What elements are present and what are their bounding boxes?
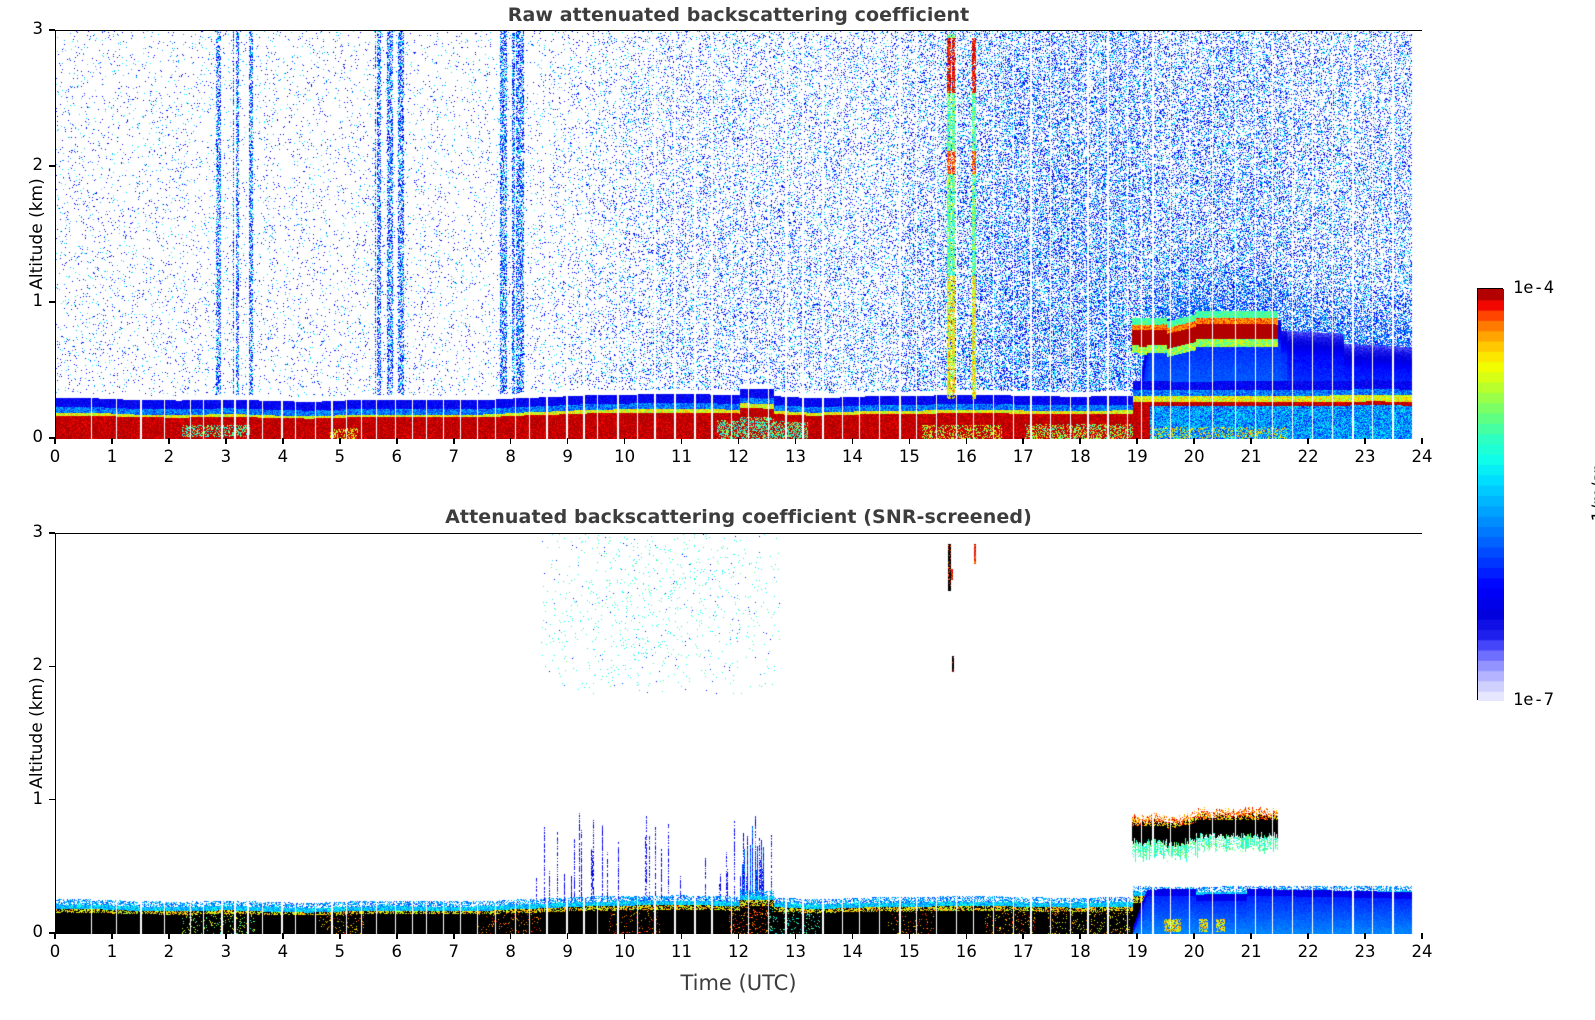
panel1-x-tick-label: 5 (314, 447, 366, 466)
panel1-x-tick-mark (1364, 438, 1366, 444)
colorbar-unit-text: 1/m/sr (1589, 434, 1595, 554)
panel1-x-tick-mark (909, 438, 911, 444)
panel1-x-tick-mark (1022, 438, 1024, 444)
panel1-x-tick-label: 16 (940, 447, 992, 466)
panel1-x-tick-label: 14 (826, 447, 878, 466)
panel1-x-tick-mark (795, 438, 797, 444)
panel2-x-tick-mark (624, 933, 626, 939)
panel2-x-tick-label: 8 (485, 942, 537, 961)
panel2-x-tick-label: 21 (1225, 942, 1277, 961)
panel2-x-tick-mark (1079, 933, 1081, 939)
panel1-x-tick-mark (624, 438, 626, 444)
panel1-x-tick-mark (1250, 438, 1252, 444)
panel1-title: Raw attenuated backscattering coefficien… (55, 4, 1422, 26)
panel1-y-tick-mark (49, 301, 55, 303)
panel2-y-tick-label: 0 (0, 922, 43, 941)
panel1-x-tick-label: 19 (1111, 447, 1163, 466)
panel2-x-tick-mark (453, 933, 455, 939)
panel1-y-tick-label: 0 (0, 427, 43, 446)
panel2-x-tick-mark (1421, 933, 1423, 939)
panel1-x-tick-mark (1307, 438, 1309, 444)
colorbar-unit-label: 1/m/sr (1539, 484, 1595, 504)
panel1-y-tick-mark (49, 29, 55, 31)
panel2-x-tick-mark (339, 933, 341, 939)
panel1-x-tick-mark (339, 438, 341, 444)
panel1-x-tick-label: 1 (86, 447, 138, 466)
colorbar[interactable] (1477, 288, 1503, 700)
panel1-plot-area[interactable] (55, 30, 1422, 438)
panel1-x-tick-label: 24 (1396, 447, 1448, 466)
figure-root: Raw attenuated backscattering coefficien… (0, 0, 1595, 1020)
panel2-x-tick-label: 20 (1168, 942, 1220, 961)
panel1-x-tick-label: 22 (1282, 447, 1334, 466)
panel2-y-tick-label: 2 (0, 655, 43, 674)
panel2-x-tick-mark (1022, 933, 1024, 939)
panel2-x-tick-mark (852, 933, 854, 939)
panel1-x-tick-mark (225, 438, 227, 444)
colorbar-gradient (1478, 289, 1504, 701)
panel2-x-tick-label: 17 (997, 942, 1049, 961)
panel1-x-tick-mark (738, 438, 740, 444)
panel2-y-tick-mark (49, 666, 55, 668)
panel2-x-tick-label: 18 (1054, 942, 1106, 961)
panel2-x-tick-label: 0 (29, 942, 81, 961)
panel2-x-tick-label: 12 (713, 942, 765, 961)
panel1-x-tick-label: 4 (257, 447, 309, 466)
panel2-x-tick-mark (396, 933, 398, 939)
panel1-x-tick-mark (510, 438, 512, 444)
panel2-x-tick-mark (795, 933, 797, 939)
panel1-x-tick-label: 9 (542, 447, 594, 466)
panel2-x-tick-mark (1136, 933, 1138, 939)
panel2-x-tick-label: 7 (428, 942, 480, 961)
panel1-x-tick-label: 12 (713, 447, 765, 466)
panel2-x-tick-label: 15 (883, 942, 935, 961)
colorbar-min-label: 1e-7 (1513, 690, 1554, 710)
panel1-x-tick-mark (396, 438, 398, 444)
panel1-x-tick-mark (567, 438, 569, 444)
panel1-x-tick-mark (1421, 438, 1423, 444)
panel1-x-tick-label: 8 (485, 447, 537, 466)
panel1-heatmap (56, 31, 1423, 439)
panel2-x-tick-mark (1193, 933, 1195, 939)
panel1-x-tick-mark (852, 438, 854, 444)
panel1-x-tick-label: 7 (428, 447, 480, 466)
panel2-x-tick-mark (738, 933, 740, 939)
panel1-x-tick-label: 17 (997, 447, 1049, 466)
panel2-x-tick-label: 9 (542, 942, 594, 961)
panel1-x-tick-label: 18 (1054, 447, 1106, 466)
panel2-x-tick-mark (1307, 933, 1309, 939)
panel1-x-tick-label: 21 (1225, 447, 1277, 466)
panel2-x-tick-mark (567, 933, 569, 939)
panel1-x-tick-label: 3 (200, 447, 252, 466)
panel2-x-tick-label: 2 (143, 942, 195, 961)
x-axis-label: Time (UTC) (55, 971, 1422, 995)
panel1-x-tick-mark (54, 438, 56, 444)
panel2-x-tick-mark (966, 933, 968, 939)
panel1-x-tick-mark (966, 438, 968, 444)
colorbar-max-label: 1e-4 (1513, 278, 1554, 298)
panel2-x-tick-label: 14 (826, 942, 878, 961)
panel2-x-tick-label: 1 (86, 942, 138, 961)
panel1-y-tick-mark (49, 165, 55, 167)
panel1-y-tick-label: 1 (0, 291, 43, 310)
panel2-x-tick-mark (681, 933, 683, 939)
panel2-x-tick-mark (168, 933, 170, 939)
panel2-x-tick-label: 4 (257, 942, 309, 961)
panel1-x-tick-mark (282, 438, 284, 444)
panel2-x-tick-label: 24 (1396, 942, 1448, 961)
panel1-x-tick-label: 15 (883, 447, 935, 466)
panel2-plot-area[interactable] (55, 533, 1422, 933)
panel1-x-tick-mark (681, 438, 683, 444)
panel2-x-tick-label: 6 (371, 942, 423, 961)
panel1-x-tick-label: 6 (371, 447, 423, 466)
panel1-x-tick-mark (453, 438, 455, 444)
panel1-y-tick-mark (49, 437, 55, 439)
panel1-x-tick-mark (168, 438, 170, 444)
panel1-x-tick-label: 10 (599, 447, 651, 466)
panel2-y-tick-mark (49, 932, 55, 934)
panel2-x-tick-label: 5 (314, 942, 366, 961)
panel2-y-tick-mark (49, 799, 55, 801)
panel1-x-tick-label: 0 (29, 447, 81, 466)
panel2-x-tick-mark (111, 933, 113, 939)
panel2-y-tick-mark (49, 532, 55, 534)
panel2-x-tick-label: 11 (656, 942, 708, 961)
panel2-x-tick-mark (282, 933, 284, 939)
panel2-x-tick-label: 10 (599, 942, 651, 961)
panel1-y-tick-label: 3 (0, 19, 43, 38)
panel2-x-tick-mark (909, 933, 911, 939)
panel1-x-tick-mark (1136, 438, 1138, 444)
panel2-title: Attenuated backscattering coefficient (S… (55, 506, 1422, 528)
panel2-x-tick-label: 13 (769, 942, 821, 961)
panel1-x-tick-mark (1193, 438, 1195, 444)
panel2-y-tick-label: 1 (0, 789, 43, 808)
panel1-y-tick-label: 2 (0, 155, 43, 174)
panel1-x-tick-label: 11 (656, 447, 708, 466)
panel1-x-tick-label: 20 (1168, 447, 1220, 466)
panel2-y-tick-label: 3 (0, 522, 43, 541)
panel2-heatmap (56, 534, 1423, 934)
panel2-x-tick-label: 16 (940, 942, 992, 961)
panel2-x-tick-label: 22 (1282, 942, 1334, 961)
panel2-x-tick-label: 3 (200, 942, 252, 961)
panel1-x-tick-mark (111, 438, 113, 444)
panel1-x-tick-label: 13 (769, 447, 821, 466)
panel1-x-tick-mark (1079, 438, 1081, 444)
panel2-x-tick-mark (1250, 933, 1252, 939)
panel2-x-tick-mark (1364, 933, 1366, 939)
panel2-x-tick-label: 19 (1111, 942, 1163, 961)
panel1-x-tick-label: 23 (1339, 447, 1391, 466)
panel2-x-tick-label: 23 (1339, 942, 1391, 961)
panel2-x-tick-mark (225, 933, 227, 939)
panel2-x-tick-mark (54, 933, 56, 939)
panel2-x-tick-mark (510, 933, 512, 939)
panel1-x-tick-label: 2 (143, 447, 195, 466)
